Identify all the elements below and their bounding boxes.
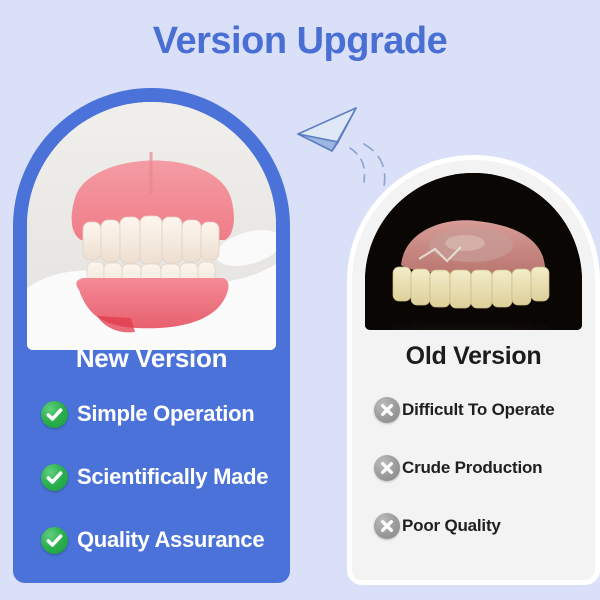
list-item-label: Difficult To Operate bbox=[402, 400, 554, 420]
page-title: Version Upgrade bbox=[0, 20, 600, 63]
old-version-photo bbox=[365, 173, 582, 330]
list-item-label: Scientifically Made bbox=[77, 464, 268, 490]
check-circle-icon bbox=[41, 464, 68, 491]
curved-dashed-trail-icon bbox=[350, 144, 385, 186]
x-circle-icon bbox=[374, 513, 400, 539]
new-version-photo bbox=[27, 102, 276, 350]
old-version-label: Old Version bbox=[352, 342, 595, 371]
list-item[interactable]: Quality Assurance bbox=[41, 514, 290, 566]
list-item[interactable]: Scientifically Made bbox=[41, 451, 290, 503]
new-version-panel[interactable]: New Version Simple Operation Scientifica… bbox=[13, 88, 290, 583]
list-item-label: Crude Production bbox=[402, 458, 542, 478]
poster-canvas: Version Upgrade bbox=[0, 0, 600, 600]
check-circle-icon bbox=[41, 401, 68, 428]
check-circle-icon bbox=[41, 527, 68, 554]
new-version-feature-list: Simple Operation Scientifically Made Qua… bbox=[41, 388, 290, 577]
list-item[interactable]: Difficult To Operate bbox=[374, 388, 595, 432]
old-version-feature-list: Difficult To Operate Crude Production Po… bbox=[374, 388, 595, 562]
list-item-label: Poor Quality bbox=[402, 516, 501, 536]
old-version-panel[interactable]: Old Version Difficult To Operate Crude P… bbox=[352, 160, 595, 580]
paper-plane-icon bbox=[292, 96, 400, 186]
list-item-label: Simple Operation bbox=[77, 401, 254, 427]
x-circle-icon bbox=[374, 397, 400, 423]
x-circle-icon bbox=[374, 455, 400, 481]
new-version-label: New Version bbox=[13, 343, 290, 374]
list-item[interactable]: Simple Operation bbox=[41, 388, 290, 440]
list-item-label: Quality Assurance bbox=[77, 527, 264, 553]
list-item[interactable]: Poor Quality bbox=[374, 504, 595, 548]
list-item[interactable]: Crude Production bbox=[374, 446, 595, 490]
